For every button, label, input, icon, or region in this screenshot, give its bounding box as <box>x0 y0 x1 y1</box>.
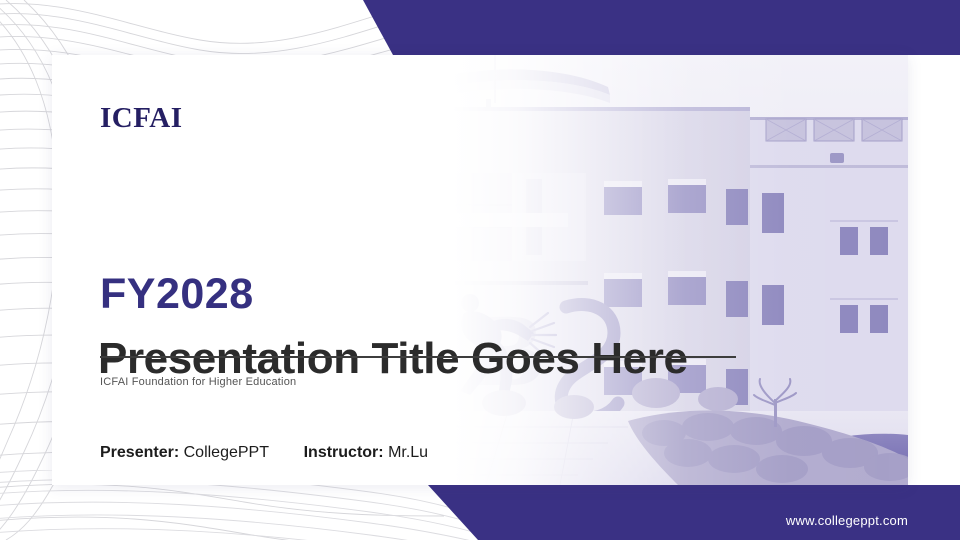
credits-line: Presenter: CollegePPT Instructor: Mr.Lu <box>100 445 428 461</box>
fiscal-year-label: FY2028 <box>100 273 254 316</box>
page-title: Presentation Title Goes Here <box>98 337 688 381</box>
card-content: ICFAI FY2028 Presentation Title Goes Her… <box>52 55 908 485</box>
organization-subtitle: ICFAI Foundation for Higher Education <box>100 377 296 388</box>
instructor-value: Mr.Lu <box>388 444 428 461</box>
presentation-slide: I B <box>0 0 960 540</box>
presenter-label: Presenter: <box>100 444 179 461</box>
instructor-label: Instructor: <box>304 444 384 461</box>
slide-card: I B <box>52 55 908 485</box>
footer-website-url[interactable]: www.collegeppt.com <box>786 514 908 527</box>
icfai-logo: ICFAI <box>100 104 183 133</box>
presenter-value: CollegePPT <box>184 444 269 461</box>
title-divider <box>100 356 736 358</box>
